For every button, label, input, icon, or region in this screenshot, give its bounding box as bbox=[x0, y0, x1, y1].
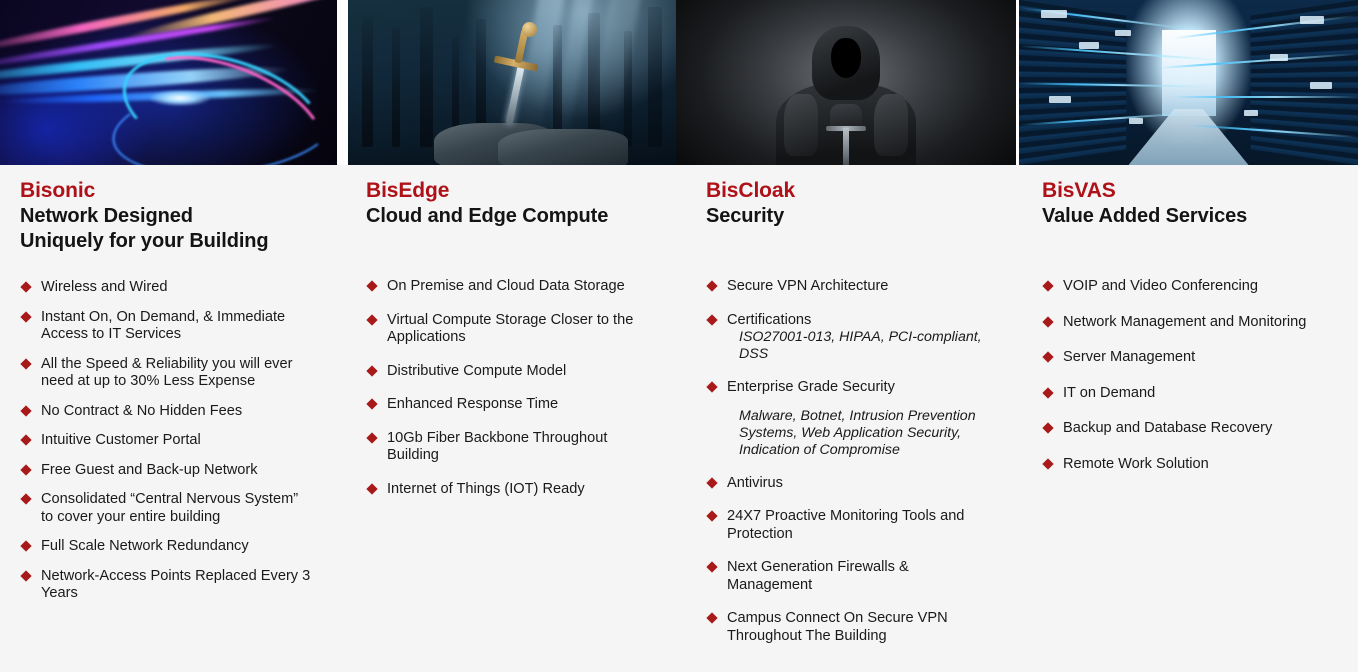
bullet-list-biscloak: Secure VPN Architecture CertificationsIS… bbox=[706, 278, 1002, 645]
list-item: Antivirus bbox=[706, 475, 1002, 493]
bullet-list-bisvas: VOIP and Video Conferencing Network Mana… bbox=[1042, 278, 1342, 473]
sword-pommel bbox=[522, 22, 537, 37]
list-item-text: All the Speed & Reliability you will eve… bbox=[41, 356, 324, 391]
list-item-text: Wireless and Wired bbox=[41, 279, 324, 297]
list-item-text: Distributive Compute Model bbox=[387, 363, 668, 381]
diamond-bullet-icon bbox=[1042, 316, 1053, 327]
brand-title-bisvas: BisVAS bbox=[1042, 178, 1342, 203]
list-item: Instant On, On Demand, & Immediate Acces… bbox=[20, 309, 324, 344]
service-column-bisonic: Bisonic Network Designed Uniquely for yo… bbox=[0, 165, 348, 672]
service-columns: Bisonic Network Designed Uniquely for yo… bbox=[0, 165, 1358, 672]
brand-title-bisonic: Bisonic bbox=[20, 178, 324, 203]
list-item-text: Consolidated “Central Nervous System” to… bbox=[41, 491, 324, 526]
data-chip-8 bbox=[1310, 82, 1332, 89]
diamond-bullet-icon bbox=[706, 612, 717, 623]
data-line-7 bbox=[1173, 96, 1358, 98]
diamond-bullet-icon bbox=[20, 281, 31, 292]
list-item-text: On Premise and Cloud Data Storage bbox=[387, 278, 668, 296]
cloak-sword-blade bbox=[843, 128, 849, 165]
subtitle-bisedge: Cloud and Edge Compute bbox=[366, 204, 668, 229]
list-item-text: Backup and Database Recovery bbox=[1063, 420, 1342, 438]
services-overview-page: Bisonic Network Designed Uniquely for yo… bbox=[0, 0, 1358, 672]
tree-9 bbox=[648, 7, 662, 147]
banner-hooded-figure bbox=[676, 0, 1016, 165]
list-item-text: No Contract & No Hidden Fees bbox=[41, 403, 324, 421]
list-item: Backup and Database Recovery bbox=[1042, 420, 1342, 438]
diamond-bullet-icon bbox=[20, 434, 31, 445]
banner-data-center bbox=[1019, 0, 1358, 165]
list-item: 24X7 Proactive Monitoring Tools and Prot… bbox=[706, 508, 1002, 543]
diamond-bullet-icon bbox=[20, 405, 31, 416]
list-item-text: Intuitive Customer Portal bbox=[41, 432, 324, 450]
diamond-bullet-icon bbox=[706, 510, 717, 521]
list-item: Next Generation Firewalls & Management bbox=[706, 559, 1002, 594]
diamond-bullet-icon bbox=[366, 398, 377, 409]
list-item-text: 24X7 Proactive Monitoring Tools and Prot… bbox=[727, 508, 1002, 543]
service-column-bisvas: BisVAS Value Added Services VOIP and Vid… bbox=[1026, 165, 1358, 672]
brand-title-biscloak: BisCloak bbox=[706, 178, 1002, 203]
diamond-bullet-icon bbox=[1042, 458, 1053, 469]
data-chip-5 bbox=[1129, 118, 1143, 124]
diamond-bullet-icon bbox=[366, 280, 377, 291]
tree-7 bbox=[588, 13, 600, 147]
list-item: Distributive Compute Model bbox=[366, 363, 668, 381]
diamond-bullet-icon bbox=[706, 561, 717, 572]
list-item-text: VOIP and Video Conferencing bbox=[1063, 278, 1342, 296]
banner-strip bbox=[0, 0, 1358, 165]
list-item: Network-Access Points Replaced Every 3 Y… bbox=[20, 568, 324, 603]
list-item: Secure VPN Architecture bbox=[706, 278, 1002, 296]
diamond-bullet-icon bbox=[706, 381, 717, 392]
list-item: Intuitive Customer Portal bbox=[20, 432, 324, 450]
list-item: IT on Demand bbox=[1042, 385, 1342, 403]
bullet-list-bisedge: On Premise and Cloud Data Storage Virtua… bbox=[366, 278, 668, 498]
list-item: VOIP and Video Conferencing bbox=[1042, 278, 1342, 296]
diamond-bullet-icon bbox=[1042, 280, 1053, 291]
list-item: Remote Work Solution bbox=[1042, 456, 1342, 474]
list-item-note: ISO27001-013, HIPAA, PCI-compliant, DSS bbox=[727, 329, 1002, 363]
list-item: Wireless and Wired bbox=[20, 279, 324, 297]
tree-8 bbox=[624, 31, 632, 147]
service-column-biscloak: BisCloak Security Secure VPN Architectur… bbox=[688, 165, 1026, 672]
subtitle-bisonic: Network Designed Uniquely for your Build… bbox=[20, 204, 324, 254]
list-item-note: Malware, Botnet, Intrusion Prevention Sy… bbox=[727, 397, 1002, 459]
list-item-text: Enterprise Grade Security bbox=[727, 379, 1002, 397]
brand-title-bisedge: BisEdge bbox=[366, 178, 668, 203]
list-item-text: Virtual Compute Storage Closer to the Ap… bbox=[387, 312, 668, 347]
diamond-bullet-icon bbox=[706, 477, 717, 488]
diamond-bullet-icon bbox=[1042, 422, 1053, 433]
list-item: On Premise and Cloud Data Storage bbox=[366, 278, 668, 296]
list-item-text: Next Generation Firewalls & Management bbox=[727, 559, 1002, 594]
diamond-bullet-icon bbox=[706, 280, 717, 291]
data-chip-6 bbox=[1300, 16, 1324, 24]
list-item-text: Enhanced Response Time bbox=[387, 396, 668, 414]
diamond-bullet-icon bbox=[20, 540, 31, 551]
diamond-bullet-icon bbox=[1042, 351, 1053, 362]
diamond-bullet-icon bbox=[20, 464, 31, 475]
list-item-text: Antivirus bbox=[727, 475, 1002, 493]
diamond-bullet-icon bbox=[366, 314, 377, 325]
list-item-text: Internet of Things (IOT) Ready bbox=[387, 481, 668, 499]
list-item-text: Campus Connect On Secure VPN Throughout … bbox=[727, 610, 1002, 645]
diamond-bullet-icon bbox=[366, 432, 377, 443]
figure-arm-right bbox=[874, 94, 908, 156]
neon-glow-highlight bbox=[150, 90, 210, 106]
banner-neon-light-streaks bbox=[0, 0, 337, 165]
diamond-bullet-icon bbox=[20, 358, 31, 369]
list-item: Enhanced Response Time bbox=[366, 396, 668, 414]
tree-2 bbox=[392, 27, 400, 147]
list-item: 10Gb Fiber Backbone Throughout Building bbox=[366, 430, 668, 465]
list-item-text: Full Scale Network Redundancy bbox=[41, 538, 324, 556]
data-chip-9 bbox=[1244, 110, 1258, 116]
banner-divider-1 bbox=[337, 0, 348, 165]
list-item: No Contract & No Hidden Fees bbox=[20, 403, 324, 421]
diamond-bullet-icon bbox=[20, 493, 31, 504]
list-item-text: 10Gb Fiber Backbone Throughout Building bbox=[387, 430, 668, 465]
list-item: Full Scale Network Redundancy bbox=[20, 538, 324, 556]
service-column-bisedge: BisEdge Cloud and Edge Compute On Premis… bbox=[348, 165, 688, 672]
figure-face-shadow bbox=[831, 38, 861, 78]
list-item: Internet of Things (IOT) Ready bbox=[366, 481, 668, 499]
list-item-text: Remote Work Solution bbox=[1063, 456, 1342, 474]
data-chip-4 bbox=[1049, 96, 1071, 103]
list-item: Server Management bbox=[1042, 349, 1342, 367]
list-item: All the Speed & Reliability you will eve… bbox=[20, 356, 324, 391]
list-item-text: Network Management and Monitoring bbox=[1063, 314, 1342, 332]
subtitle-biscloak: Security bbox=[706, 204, 1002, 229]
banner-sword-in-stone bbox=[348, 0, 676, 165]
data-chip-1 bbox=[1041, 10, 1067, 18]
list-item-text: Free Guest and Back-up Network bbox=[41, 462, 324, 480]
tree-3 bbox=[420, 7, 433, 147]
list-item: Campus Connect On Secure VPN Throughout … bbox=[706, 610, 1002, 645]
diamond-bullet-icon bbox=[706, 314, 717, 325]
bullet-list-bisonic: Wireless and Wired Instant On, On Demand… bbox=[20, 279, 324, 603]
list-item: Enterprise Grade SecurityMalware, Botnet… bbox=[706, 379, 1002, 459]
data-chip-2 bbox=[1079, 42, 1099, 49]
diamond-bullet-icon bbox=[20, 570, 31, 581]
list-item-text: Certifications bbox=[727, 312, 1002, 330]
list-item-text: IT on Demand bbox=[1063, 385, 1342, 403]
list-item: CertificationsISO27001-013, HIPAA, PCI-c… bbox=[706, 312, 1002, 364]
list-item-text: Instant On, On Demand, & Immediate Acces… bbox=[41, 309, 324, 344]
corridor-light-door bbox=[1162, 30, 1216, 116]
list-item-text: Network-Access Points Replaced Every 3 Y… bbox=[41, 568, 324, 603]
list-item-text: Secure VPN Architecture bbox=[727, 278, 1002, 296]
diamond-bullet-icon bbox=[366, 365, 377, 376]
tree-1 bbox=[362, 17, 373, 147]
list-item: Virtual Compute Storage Closer to the Ap… bbox=[366, 312, 668, 347]
list-item: Network Management and Monitoring bbox=[1042, 314, 1342, 332]
figure-arm-left bbox=[784, 94, 818, 156]
list-item: Consolidated “Central Nervous System” to… bbox=[20, 491, 324, 526]
diamond-bullet-icon bbox=[366, 483, 377, 494]
diamond-bullet-icon bbox=[20, 311, 31, 322]
list-item-text: Server Management bbox=[1063, 349, 1342, 367]
data-chip-3 bbox=[1115, 30, 1131, 36]
diamond-bullet-icon bbox=[1042, 387, 1053, 398]
subtitle-bisvas: Value Added Services bbox=[1042, 204, 1342, 229]
data-chip-7 bbox=[1270, 54, 1288, 61]
list-item: Free Guest and Back-up Network bbox=[20, 462, 324, 480]
rock-right bbox=[498, 129, 628, 165]
